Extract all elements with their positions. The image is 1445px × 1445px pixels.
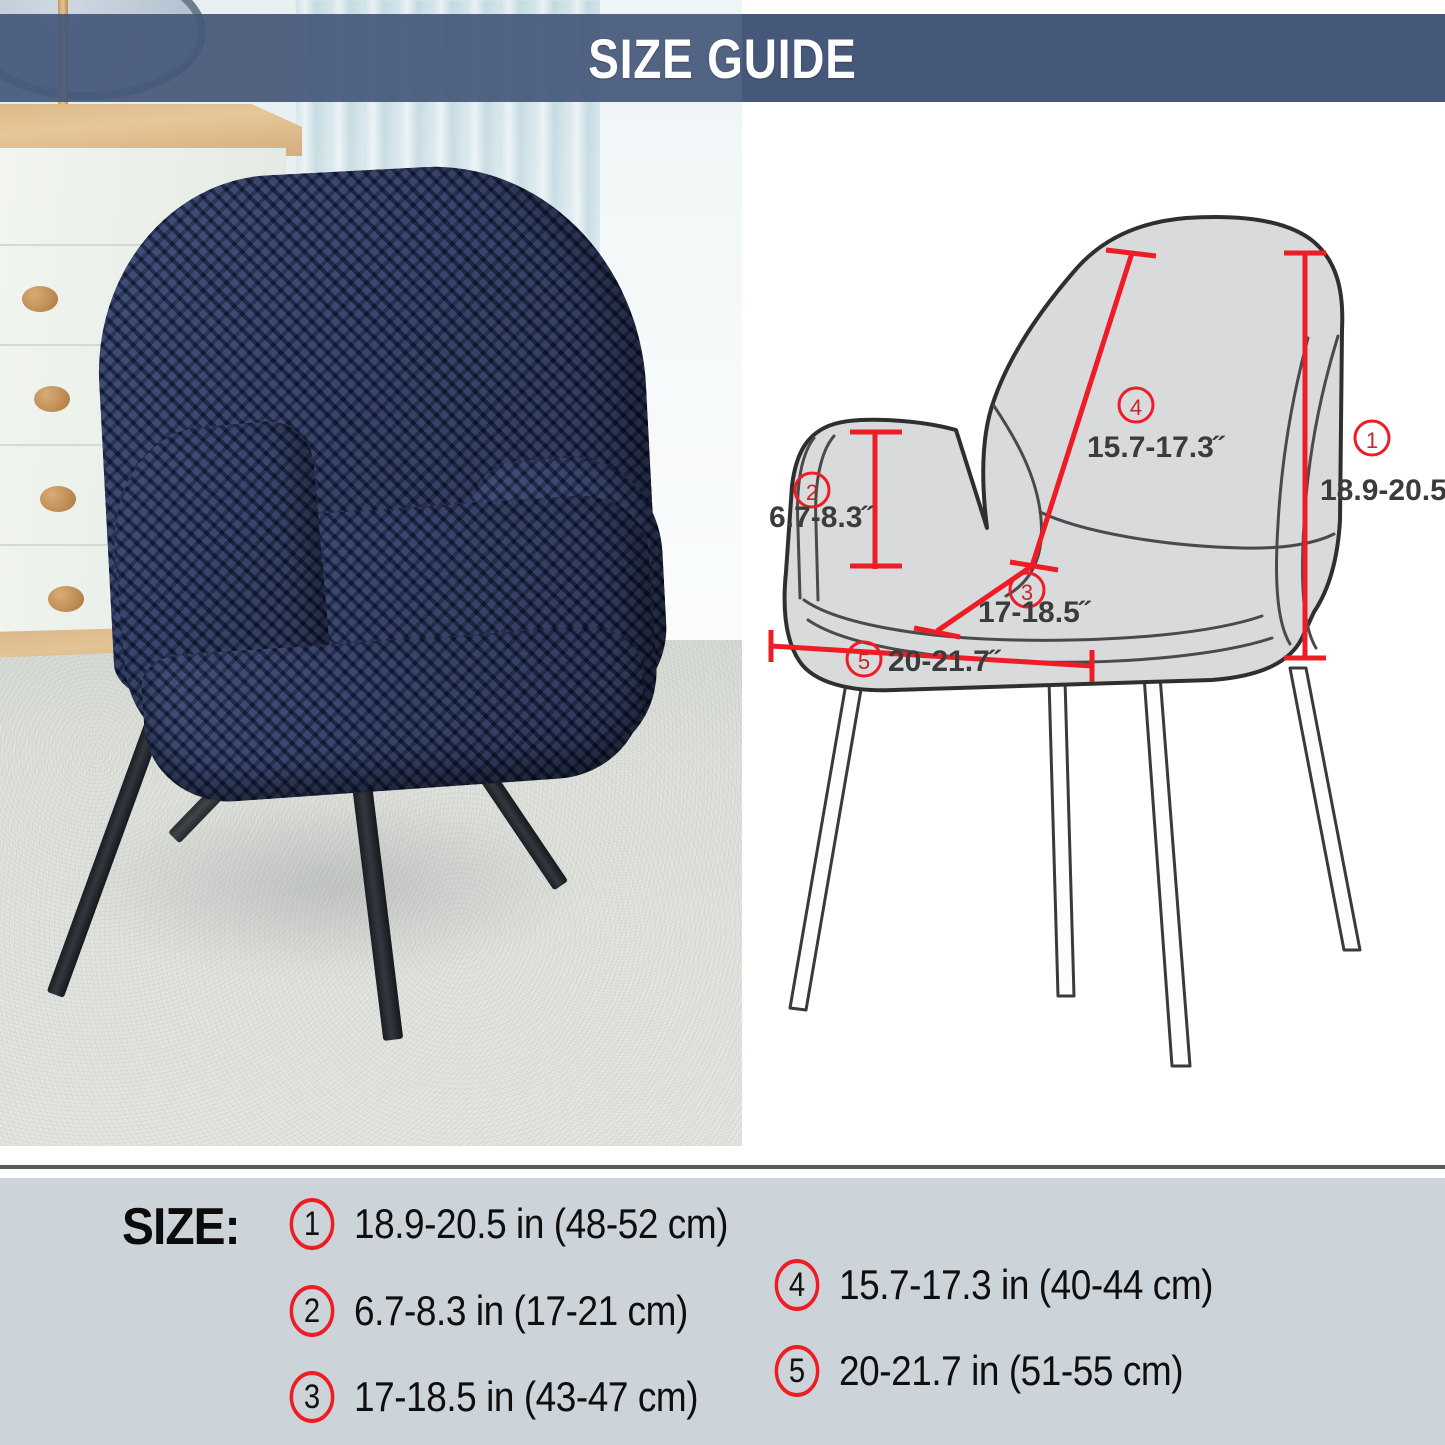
dimension-diagram-pane: 1 18.9-20.5˝ 2 6.7-8.3˝ 3 [742,0,1445,1146]
dimension-badge-5-number: 5 [858,649,870,674]
drawer-knob [34,386,70,412]
legend-row-5: 5 20-21.7 in (51-55 cm) [771,1345,1230,1397]
legend-badge-4: 4 [775,1259,820,1311]
legend-text-4: 15.7-17.3 in (40-44 cm) [839,1261,1213,1309]
legend-badge-3: 3 [290,1371,335,1423]
legend-row-1: 1 18.9-20.5 in (48-52 cm) [286,1198,779,1250]
chair-legs-outline [790,668,1360,1066]
drawer-knob [22,286,58,312]
dimension-badge-1: 1 [1355,421,1389,455]
legend-text-2: 6.7-8.3 in (17-21 cm) [354,1287,688,1335]
dimension-label-5: 20-21.7˝ [888,645,1002,678]
chair-dimension-drawing: 1 18.9-20.5˝ 2 6.7-8.3˝ 3 [742,0,1445,1146]
legend-badge-5: 5 [775,1345,820,1397]
dimension-label-2: 6.7-8.3˝ [769,501,874,534]
legend-text-5: 20-21.7 in (51-55 cm) [839,1347,1183,1395]
navy-armchair [84,170,684,990]
dimension-label-1: 18.9-20.5˝ [1320,474,1445,507]
dimension-label-3: 17-18.5˝ [978,596,1092,629]
drawer-knob [40,486,76,512]
legend-badge-1: 1 [290,1198,335,1250]
dimension-label-4: 15.7-17.3˝ [1087,431,1226,464]
size-label: SIZE: [122,1197,240,1257]
drawer-knob [48,586,84,612]
legend-row-3: 3 17-18.5 in (43-47 cm) [286,1371,745,1423]
section-divider [0,1165,1445,1169]
legend-row-2: 2 6.7-8.3 in (17-21 cm) [286,1285,733,1337]
product-photo [0,0,742,1146]
page-title: SIZE GUIDE [130,14,1315,102]
top-composite-area: 1 18.9-20.5˝ 2 6.7-8.3˝ 3 [0,0,1445,1146]
legend-text-3: 17-18.5 in (43-47 cm) [354,1373,698,1421]
dimension-badge-4-number: 4 [1130,395,1142,420]
legend-row-4: 4 15.7-17.3 in (40-44 cm) [771,1259,1264,1311]
dimension-badge-1-number: 1 [1366,428,1378,453]
legend-badge-2: 2 [290,1285,335,1337]
legend-text-1: 18.9-20.5 in (48-52 cm) [354,1200,728,1248]
